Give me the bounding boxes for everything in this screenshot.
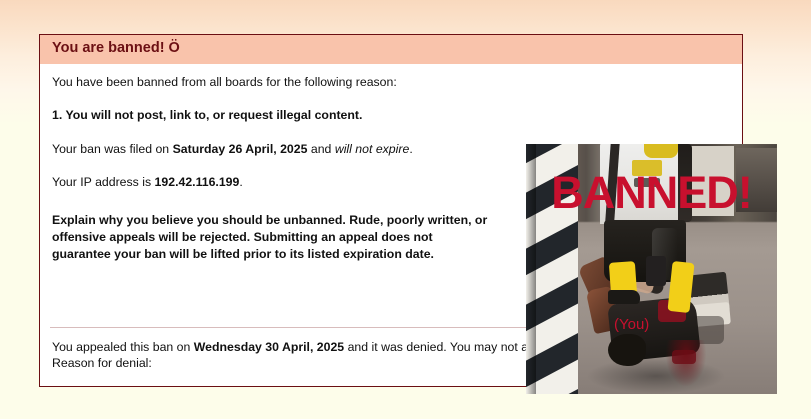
ban-ip-prefix: Your IP address is <box>52 175 155 189</box>
ban-filed-line: Your ban was filed on Saturday 26 April,… <box>52 142 492 157</box>
ban-ip-address: 192.42.116.199 <box>155 175 240 189</box>
you-overlay-label: (You) <box>614 316 649 333</box>
appealed-prefix: You appealed this ban on <box>52 340 194 354</box>
ban-intro-text: You have been banned from all boards for… <box>52 75 492 90</box>
ban-panel-body: You have been banned from all boards for… <box>40 65 742 320</box>
ban-details-text: You have been banned from all boards for… <box>52 75 492 262</box>
ban-ip-line: Your IP address is 192.42.116.199. <box>52 175 492 190</box>
ban-filed-middle: and <box>307 142 334 156</box>
ban-panel: You are banned! Ö You have been banned f… <box>39 34 743 387</box>
appealed-date: Wednesday 30 April, 2025 <box>194 340 344 354</box>
ban-filed-prefix: Your ban was filed on <box>52 142 173 156</box>
banned-image: BANNED! (You) <box>526 144 777 394</box>
ban-ip-suffix: . <box>239 175 242 189</box>
appeal-instructions-text: Explain why you believe you should be un… <box>52 212 492 262</box>
image-victim-head <box>608 334 646 366</box>
ban-reason-rule: 1. You will not post, link to, or reques… <box>52 108 492 123</box>
ban-expiry-text: will not expire <box>335 142 410 156</box>
ban-filed-suffix: . <box>409 142 412 156</box>
ban-panel-header: You are banned! Ö <box>40 35 742 65</box>
denial-reason-label: Reason for denial: <box>52 356 152 370</box>
image-attacker-shirt-logo-top <box>644 144 678 158</box>
banned-overlay-text: BANNED! <box>526 170 777 215</box>
image-attacker-leg <box>646 256 666 286</box>
page-title: Banned! <box>0 0 811 7</box>
ban-filed-date: Saturday 26 April, 2025 <box>173 142 308 156</box>
image-attacker-shoe <box>608 290 640 304</box>
image-blood-smear <box>666 340 706 386</box>
